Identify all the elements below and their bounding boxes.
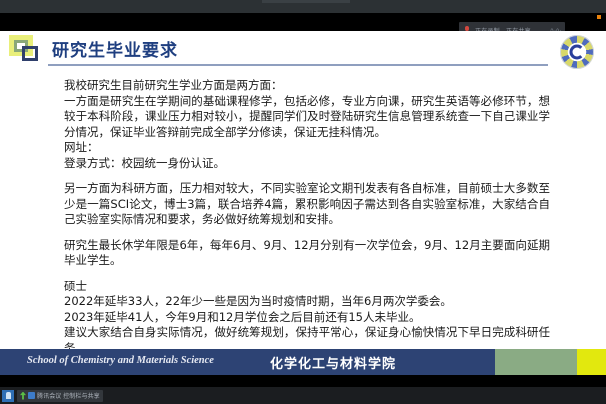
paragraph-coursework: 一方面是研究生在学期间的基础课程修学，包括必修，专业方向课，研究生英语等必修环节… [64, 94, 550, 141]
slide-footer: School of Chemistry and Materials Scienc… [0, 349, 606, 375]
screen-root: 正在录制，正在共享 ∿∿ 研究生毕业要求 我校研究生目前研究生学业方面是两方面：… [0, 0, 606, 404]
window-chrome-bar [0, 0, 606, 13]
footer-school-name-en: School of Chemistry and Materials Scienc… [27, 355, 214, 366]
paragraph-stats-2023: 2023年延毕41人，今年9月和12月学位会之后目前还有15人未毕业。 [64, 310, 550, 326]
university-seal-icon [560, 35, 594, 69]
download-icon [20, 392, 26, 400]
page-title: 研究生毕业要求 [52, 36, 178, 61]
start-user-icon[interactable] [2, 390, 14, 402]
slide-canvas: 研究生毕业要求 我校研究生目前研究生学业方面是两方面： 一方面是研究生在学期间的… [0, 31, 606, 349]
slide-body: 我校研究生目前研究生学业方面是两方面： 一方面是研究生在学期间的基础课程修学，包… [64, 78, 550, 356]
chrome-tab-strip[interactable] [262, 0, 350, 3]
paragraph-website-label: 网址： [64, 140, 550, 156]
slide-header: 研究生毕业要求 [0, 31, 606, 71]
paragraph-masters-heading: 硕士 [64, 279, 550, 295]
taskbar-item-meeting[interactable]: 腾讯会议 控制栏与共享 [17, 390, 103, 402]
taskbar-item-label: 腾讯会议 控制栏与共享 [37, 391, 100, 400]
logo-square-navy [22, 46, 38, 61]
paragraph-stats-2022: 2022年延毕33人，22年少一些是因为当时疫情时期，当年6月两次学委会。 [64, 294, 550, 310]
paragraph-intro: 我校研究生目前研究生学业方面是两方面： [64, 78, 550, 94]
notification-dot-icon [597, 15, 601, 19]
paragraph-research: 另一方面为科研方面，压力相对较大，不同实验室论文期刊发表有各自标准，目前硕士大多… [64, 181, 550, 228]
nested-squares-logo-icon [9, 35, 43, 63]
taskbar: 腾讯会议 控制栏与共享 [0, 387, 606, 404]
app-icon [28, 392, 35, 399]
paragraph-max-years: 研究生最长休学年限是6年，每年6月、9月、12月分别有一次学位会，9月、12月主… [64, 238, 550, 269]
paragraph-login-method: 登录方式：校园统一身份认证。 [64, 156, 550, 172]
footer-school-name-cn: 化学化工与材料学院 [270, 353, 396, 372]
title-underline-rule [48, 64, 548, 66]
footer-accent-yellow [577, 349, 606, 375]
footer-accent-green [495, 349, 577, 375]
